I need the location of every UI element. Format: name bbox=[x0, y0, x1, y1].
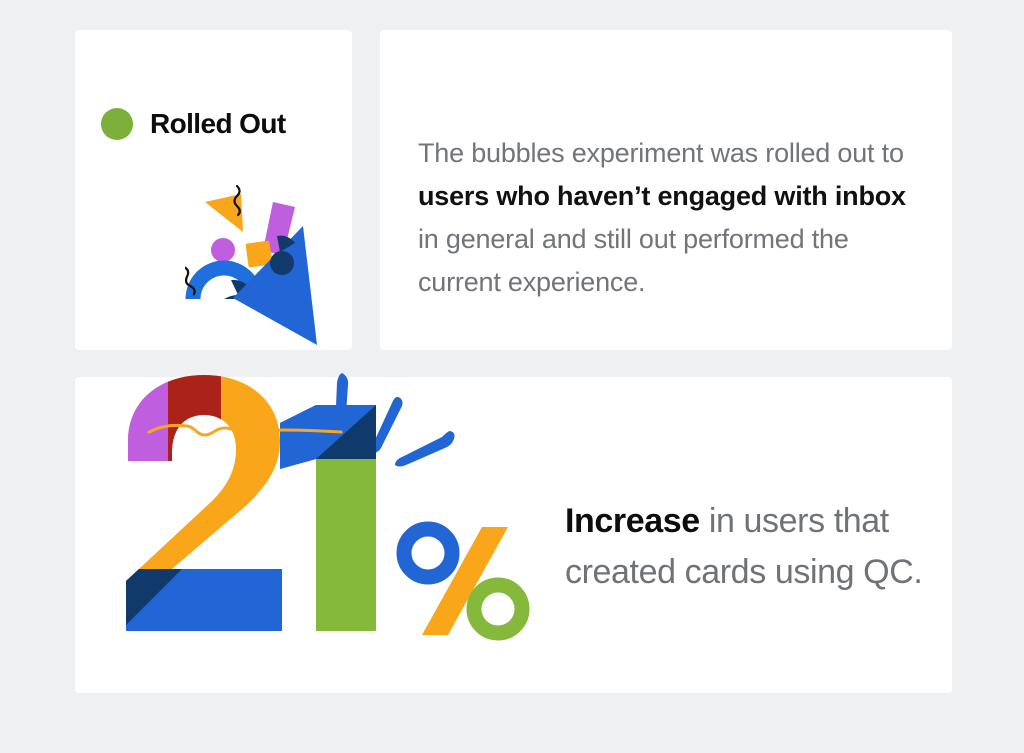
metric-caption: Increase in users that created cards usi… bbox=[565, 496, 945, 598]
infographic-page: Rolled Out bbox=[0, 0, 1024, 753]
status-card: Rolled Out bbox=[75, 30, 352, 350]
metric-caption-emphasis: Increase bbox=[565, 502, 700, 540]
metric-card: Increase in users that created cards usi… bbox=[75, 377, 952, 693]
summary-paragraph: The bubbles experiment was rolled out to… bbox=[418, 132, 918, 304]
metric-value-graphic bbox=[120, 369, 570, 659]
status-dot-icon bbox=[101, 108, 133, 140]
status-badge: Rolled Out bbox=[101, 108, 286, 140]
status-badge-label: Rolled Out bbox=[150, 108, 286, 140]
summary-text-emphasis: users who haven’t engaged with inbox bbox=[418, 181, 906, 211]
summary-card: The bubbles experiment was rolled out to… bbox=[380, 30, 952, 350]
summary-text-part-2: in general and still out performed the c… bbox=[418, 224, 849, 297]
party-popper-icon bbox=[185, 180, 385, 360]
summary-text-part-1: The bubbles experiment was rolled out to bbox=[418, 138, 904, 168]
